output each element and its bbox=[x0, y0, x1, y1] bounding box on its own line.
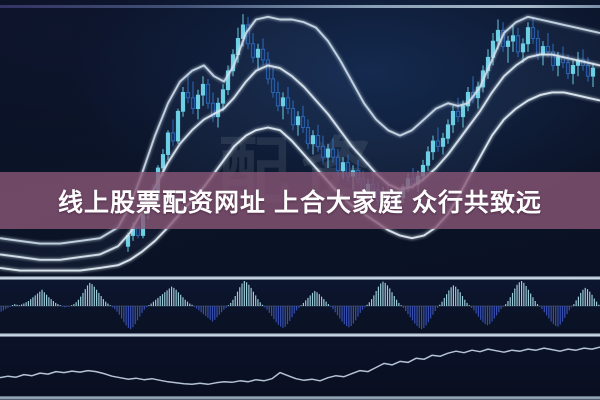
caption-headline: 线上股票配资网址 上合大家庭 众行共致远 bbox=[58, 183, 542, 219]
bollinger-band-fill bbox=[0, 17, 600, 271]
stock-chart-image: 配资 线上股票配资网址 上合大家庭 众行共致远 bbox=[0, 0, 600, 400]
oscillator-panel bbox=[0, 337, 600, 396]
oscillator-line bbox=[0, 347, 600, 384]
macd-histogram-panel bbox=[0, 280, 600, 333]
macd-chart-svg bbox=[0, 280, 600, 333]
price-chart-svg bbox=[0, 6, 600, 276]
macd-bars bbox=[0, 281, 600, 329]
price-panel bbox=[0, 6, 600, 276]
caption-band: 线上股票配资网址 上合大家庭 众行共致远 bbox=[0, 172, 600, 229]
oscillator-chart-svg bbox=[0, 337, 600, 396]
